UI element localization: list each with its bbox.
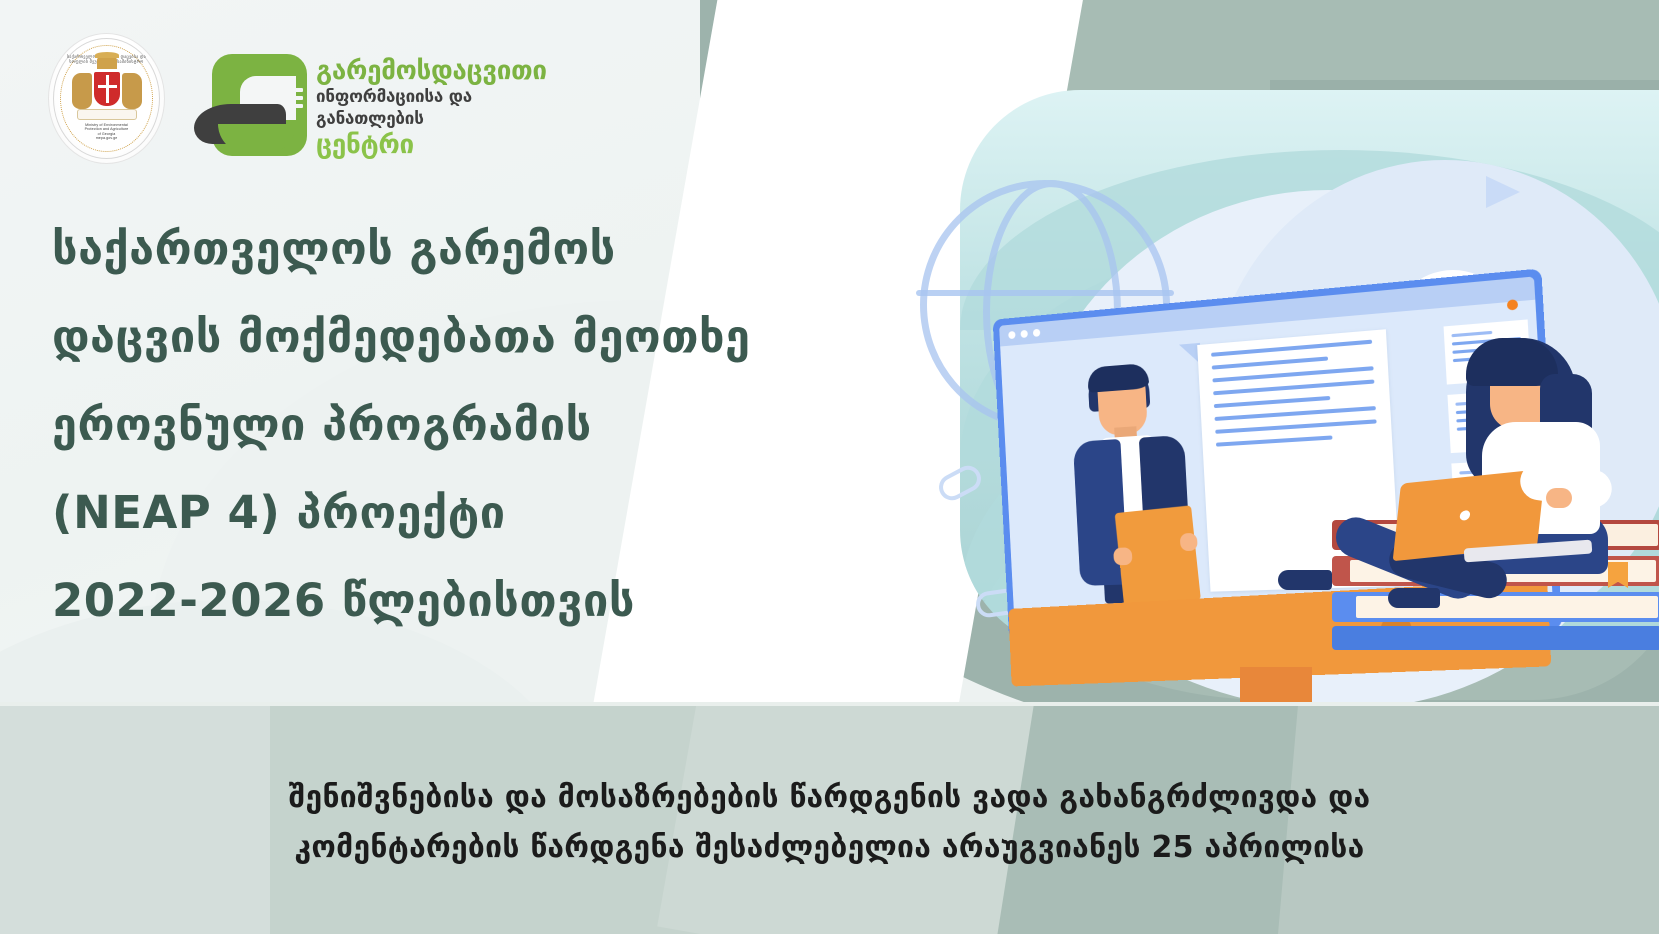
title-line-4: (NEAP 4) პროექტი bbox=[52, 469, 812, 557]
announcement-banner: შენიშვნებისა და მოსაზრებების წარდგენის ვ… bbox=[0, 702, 1659, 934]
coat-of-arms-icon: საქართველოს გარემოს დაცვისა და სოფლის მე… bbox=[59, 45, 155, 153]
lion-right-icon bbox=[122, 73, 142, 109]
man-with-clipboard-illustration bbox=[1056, 359, 1207, 600]
shield-icon bbox=[93, 71, 121, 107]
poster-canvas: საქართველოს გარემოს დაცვისა და სოფლის მე… bbox=[0, 0, 1659, 934]
window-dot bbox=[1020, 330, 1027, 338]
banner-line-1: შენიშვნებისა და მოსაზრებების წარდგენის ვ… bbox=[289, 773, 1371, 823]
ministry-seal: საქართველოს გარემოს დაცვისა და სოფლის მე… bbox=[48, 33, 165, 164]
lion-left-icon bbox=[72, 73, 92, 109]
center-logo-line-3: ცენტრი bbox=[316, 130, 578, 160]
title-line-5: 2022-2026 წლებისთვის bbox=[52, 557, 812, 645]
center-logo-text: გარემოსდაცვითი ინფორმაციისა და განათლები… bbox=[316, 56, 578, 160]
title-line-1: საქართველოს გარემოს bbox=[52, 205, 812, 293]
illustration bbox=[880, 120, 1659, 680]
crown-icon bbox=[97, 57, 117, 69]
page-title: საქართველოს გარემოს დაცვის მოქმედებათა მ… bbox=[52, 205, 812, 645]
banner-line-2: კომენტარების წარდგენა შესაძლებელია არაუგ… bbox=[289, 823, 1371, 873]
shield-cross-horizontal bbox=[98, 85, 117, 88]
open-book-mark-icon bbox=[212, 54, 307, 156]
paper-plane-icon bbox=[1486, 176, 1520, 208]
shield-cross-vertical bbox=[106, 75, 109, 103]
banner-tint-left bbox=[0, 706, 270, 934]
title-line-2: დაცვის მოქმედებათა მეოთხე bbox=[52, 293, 812, 381]
banner-text: შენიშვნებისა და მოსაზრებების წარდგენის ვ… bbox=[289, 767, 1371, 873]
title-line-3: ეროვნული პროგრამის bbox=[52, 381, 812, 469]
paperclip-icon bbox=[934, 461, 985, 505]
center-logo-line-2: ინფორმაციისა და განათლების bbox=[316, 86, 578, 130]
center-logo: გარემოსდაცვითი ინფორმაციისა და განათლები… bbox=[212, 52, 572, 164]
window-dot bbox=[1008, 331, 1015, 339]
seal-caption: Ministry of Environmental Protection and… bbox=[59, 123, 155, 141]
center-logo-line-1: გარემოსდაცვითი bbox=[316, 56, 578, 86]
seal-caption-line-4: mepa.gov.ge bbox=[59, 136, 155, 141]
book-item bbox=[1332, 626, 1659, 650]
window-dot bbox=[1033, 329, 1040, 337]
notification-dot bbox=[1507, 299, 1519, 310]
motto-scroll bbox=[77, 109, 137, 120]
woman-with-laptop-illustration bbox=[1428, 338, 1658, 578]
